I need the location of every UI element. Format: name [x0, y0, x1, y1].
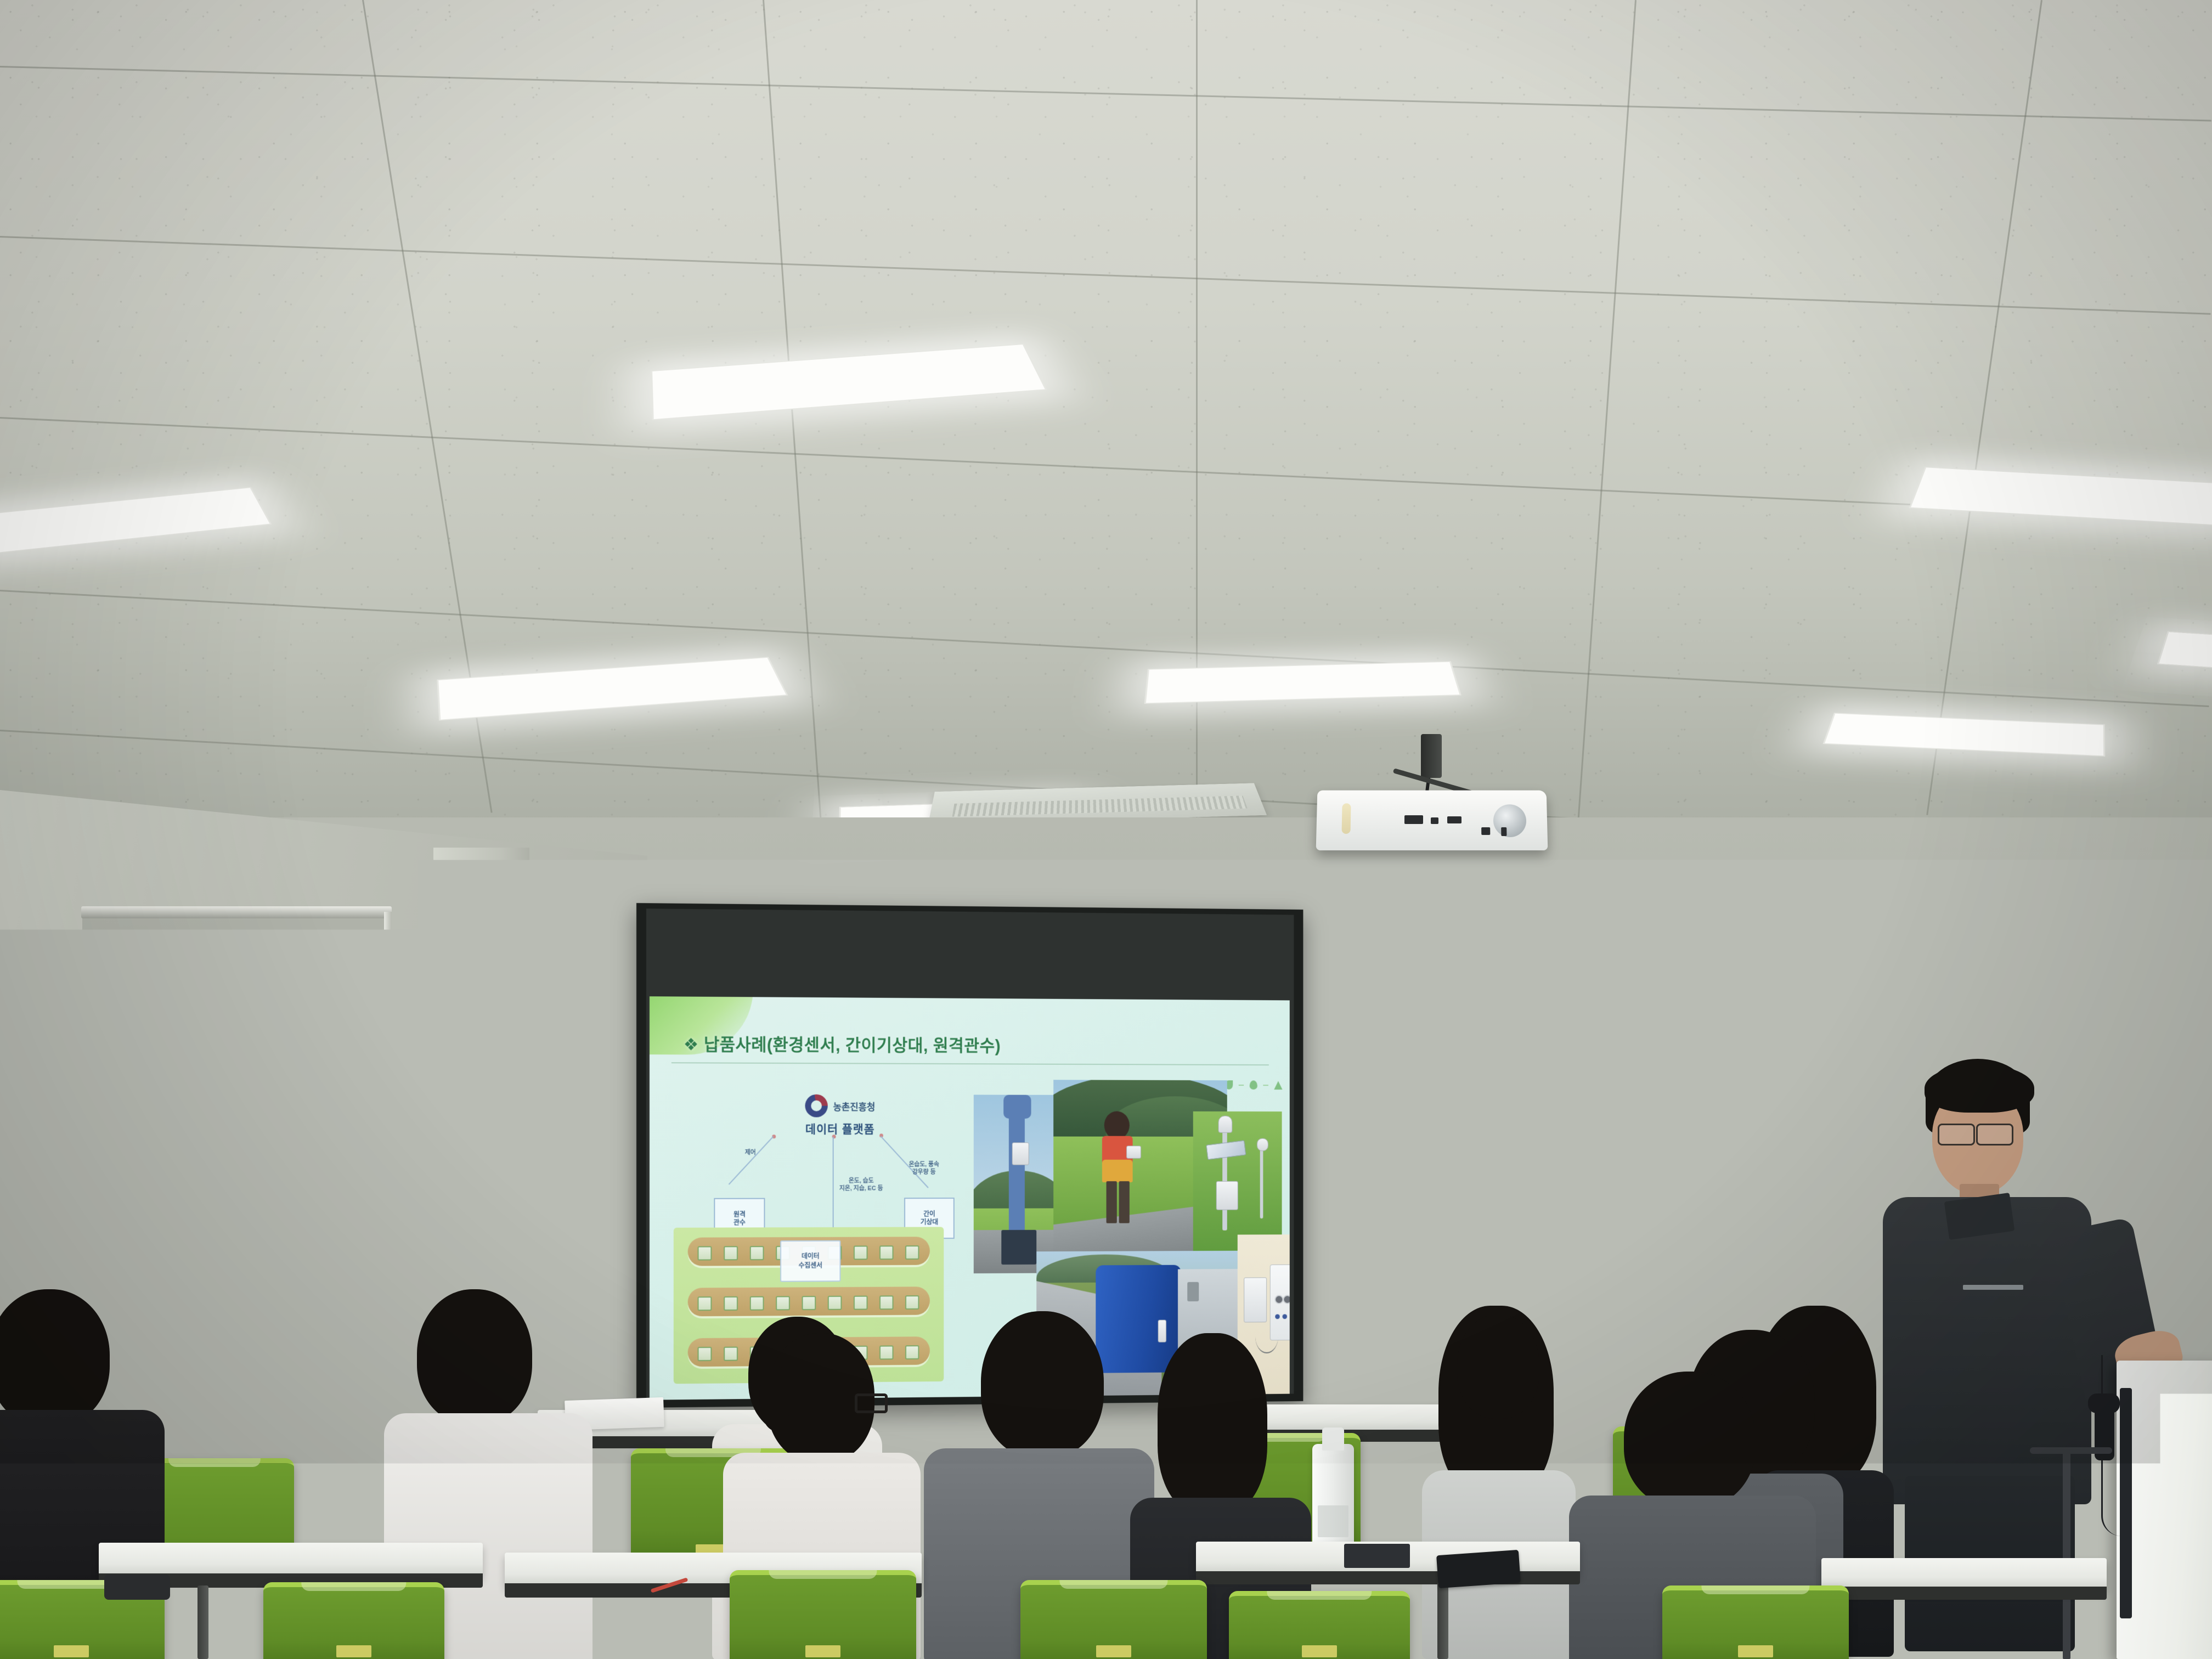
- student-head: [417, 1289, 532, 1424]
- taegeuk-icon: [805, 1094, 827, 1118]
- chair-label: [1096, 1645, 1131, 1657]
- paper-stack: [296, 1517, 407, 1543]
- antenna-icon: [1244, 1277, 1267, 1322]
- diagram-label-weather-values: 온습도, 풍속 강우량 등: [894, 1161, 953, 1176]
- classroom-chair[interactable]: [730, 1570, 916, 1659]
- water-bottle[interactable]: [1312, 1444, 1354, 1554]
- platform-name: 데이터 플랫폼: [767, 1120, 912, 1137]
- crop-row: [688, 1286, 930, 1316]
- student-head: [981, 1311, 1104, 1458]
- rda-logo-block: 농촌진흥청 데이터 플랫폼: [767, 1094, 912, 1137]
- classroom-photo: ❖ 납품사례(환경센서, 간이기상대, 원격관수) 농촌진흥청: [0, 0, 2212, 1659]
- bottle-cap: [1322, 1427, 1344, 1451]
- lectern-edge-slot: [2120, 1388, 2132, 1618]
- slide-mini-icons: [1225, 1080, 1283, 1090]
- slide-title: ❖ 납품사례(환경센서, 간이기상대, 원격관수): [684, 1030, 1001, 1056]
- pencil-case[interactable]: [1344, 1544, 1410, 1568]
- control-panel-icon: [1270, 1265, 1290, 1341]
- presenter-glasses: [1976, 1124, 2013, 1145]
- tree-icon: [1274, 1081, 1282, 1090]
- slide-title-text: 납품사례(환경센서, 간이기상대, 원격관수): [704, 1035, 1001, 1056]
- smartphone[interactable]: [1436, 1550, 1521, 1588]
- clock-center: [1560, 1231, 1565, 1236]
- student-head: [0, 1289, 110, 1426]
- photo-pole-sensor: [974, 1094, 1062, 1273]
- student-head: [1624, 1372, 1756, 1509]
- chair-label: [336, 1645, 371, 1657]
- remote-control[interactable]: [104, 1575, 170, 1600]
- projector-vent: [1342, 803, 1351, 834]
- presenter-glasses: [1938, 1124, 1975, 1145]
- chair-label: [1302, 1645, 1337, 1657]
- diagram-label-sensor-values: 온도, 습도 지온, 지습, EC 등: [812, 1177, 910, 1193]
- classroom-desk: [99, 1543, 483, 1577]
- agency-name: 농촌진흥청: [833, 1099, 876, 1113]
- slide-title-rule: [672, 1062, 1269, 1065]
- data-collection-sensor-box: 데이터 수집센서: [780, 1240, 840, 1282]
- lectern[interactable]: [2117, 1361, 2212, 1659]
- classroom-chair[interactable]: [1229, 1591, 1410, 1659]
- list-item: [1404, 1306, 1591, 1659]
- clock-hour-hand: [1542, 1227, 1562, 1235]
- diagram-label-control: 제어: [731, 1149, 769, 1156]
- student-glasses: [855, 1393, 888, 1413]
- clock-face: [1524, 1195, 1600, 1271]
- student-hair: [1158, 1333, 1267, 1514]
- classroom-chair[interactable]: [1020, 1580, 1207, 1659]
- chair-label: [54, 1645, 89, 1657]
- classroom-desk: [1821, 1558, 2107, 1590]
- icon-connector: [1239, 1085, 1244, 1086]
- blind-rail: [81, 906, 392, 918]
- projector-mount: [1421, 734, 1442, 778]
- slide-bullet-marker: ❖: [684, 1035, 699, 1054]
- projector-lens: [1493, 804, 1527, 837]
- ceiling-projector: [1316, 791, 1548, 850]
- wall-clock: [1510, 1181, 1614, 1285]
- chair-label: [1738, 1645, 1773, 1657]
- clock-minute-hand: [1559, 1234, 1564, 1263]
- mic-stand: [2063, 1448, 2070, 1659]
- classroom-chair[interactable]: [1662, 1585, 1849, 1659]
- icon-connector: [1263, 1085, 1268, 1086]
- chair-label: [805, 1645, 840, 1657]
- classroom-chair[interactable]: [263, 1582, 444, 1659]
- droplet-icon: [1250, 1080, 1257, 1090]
